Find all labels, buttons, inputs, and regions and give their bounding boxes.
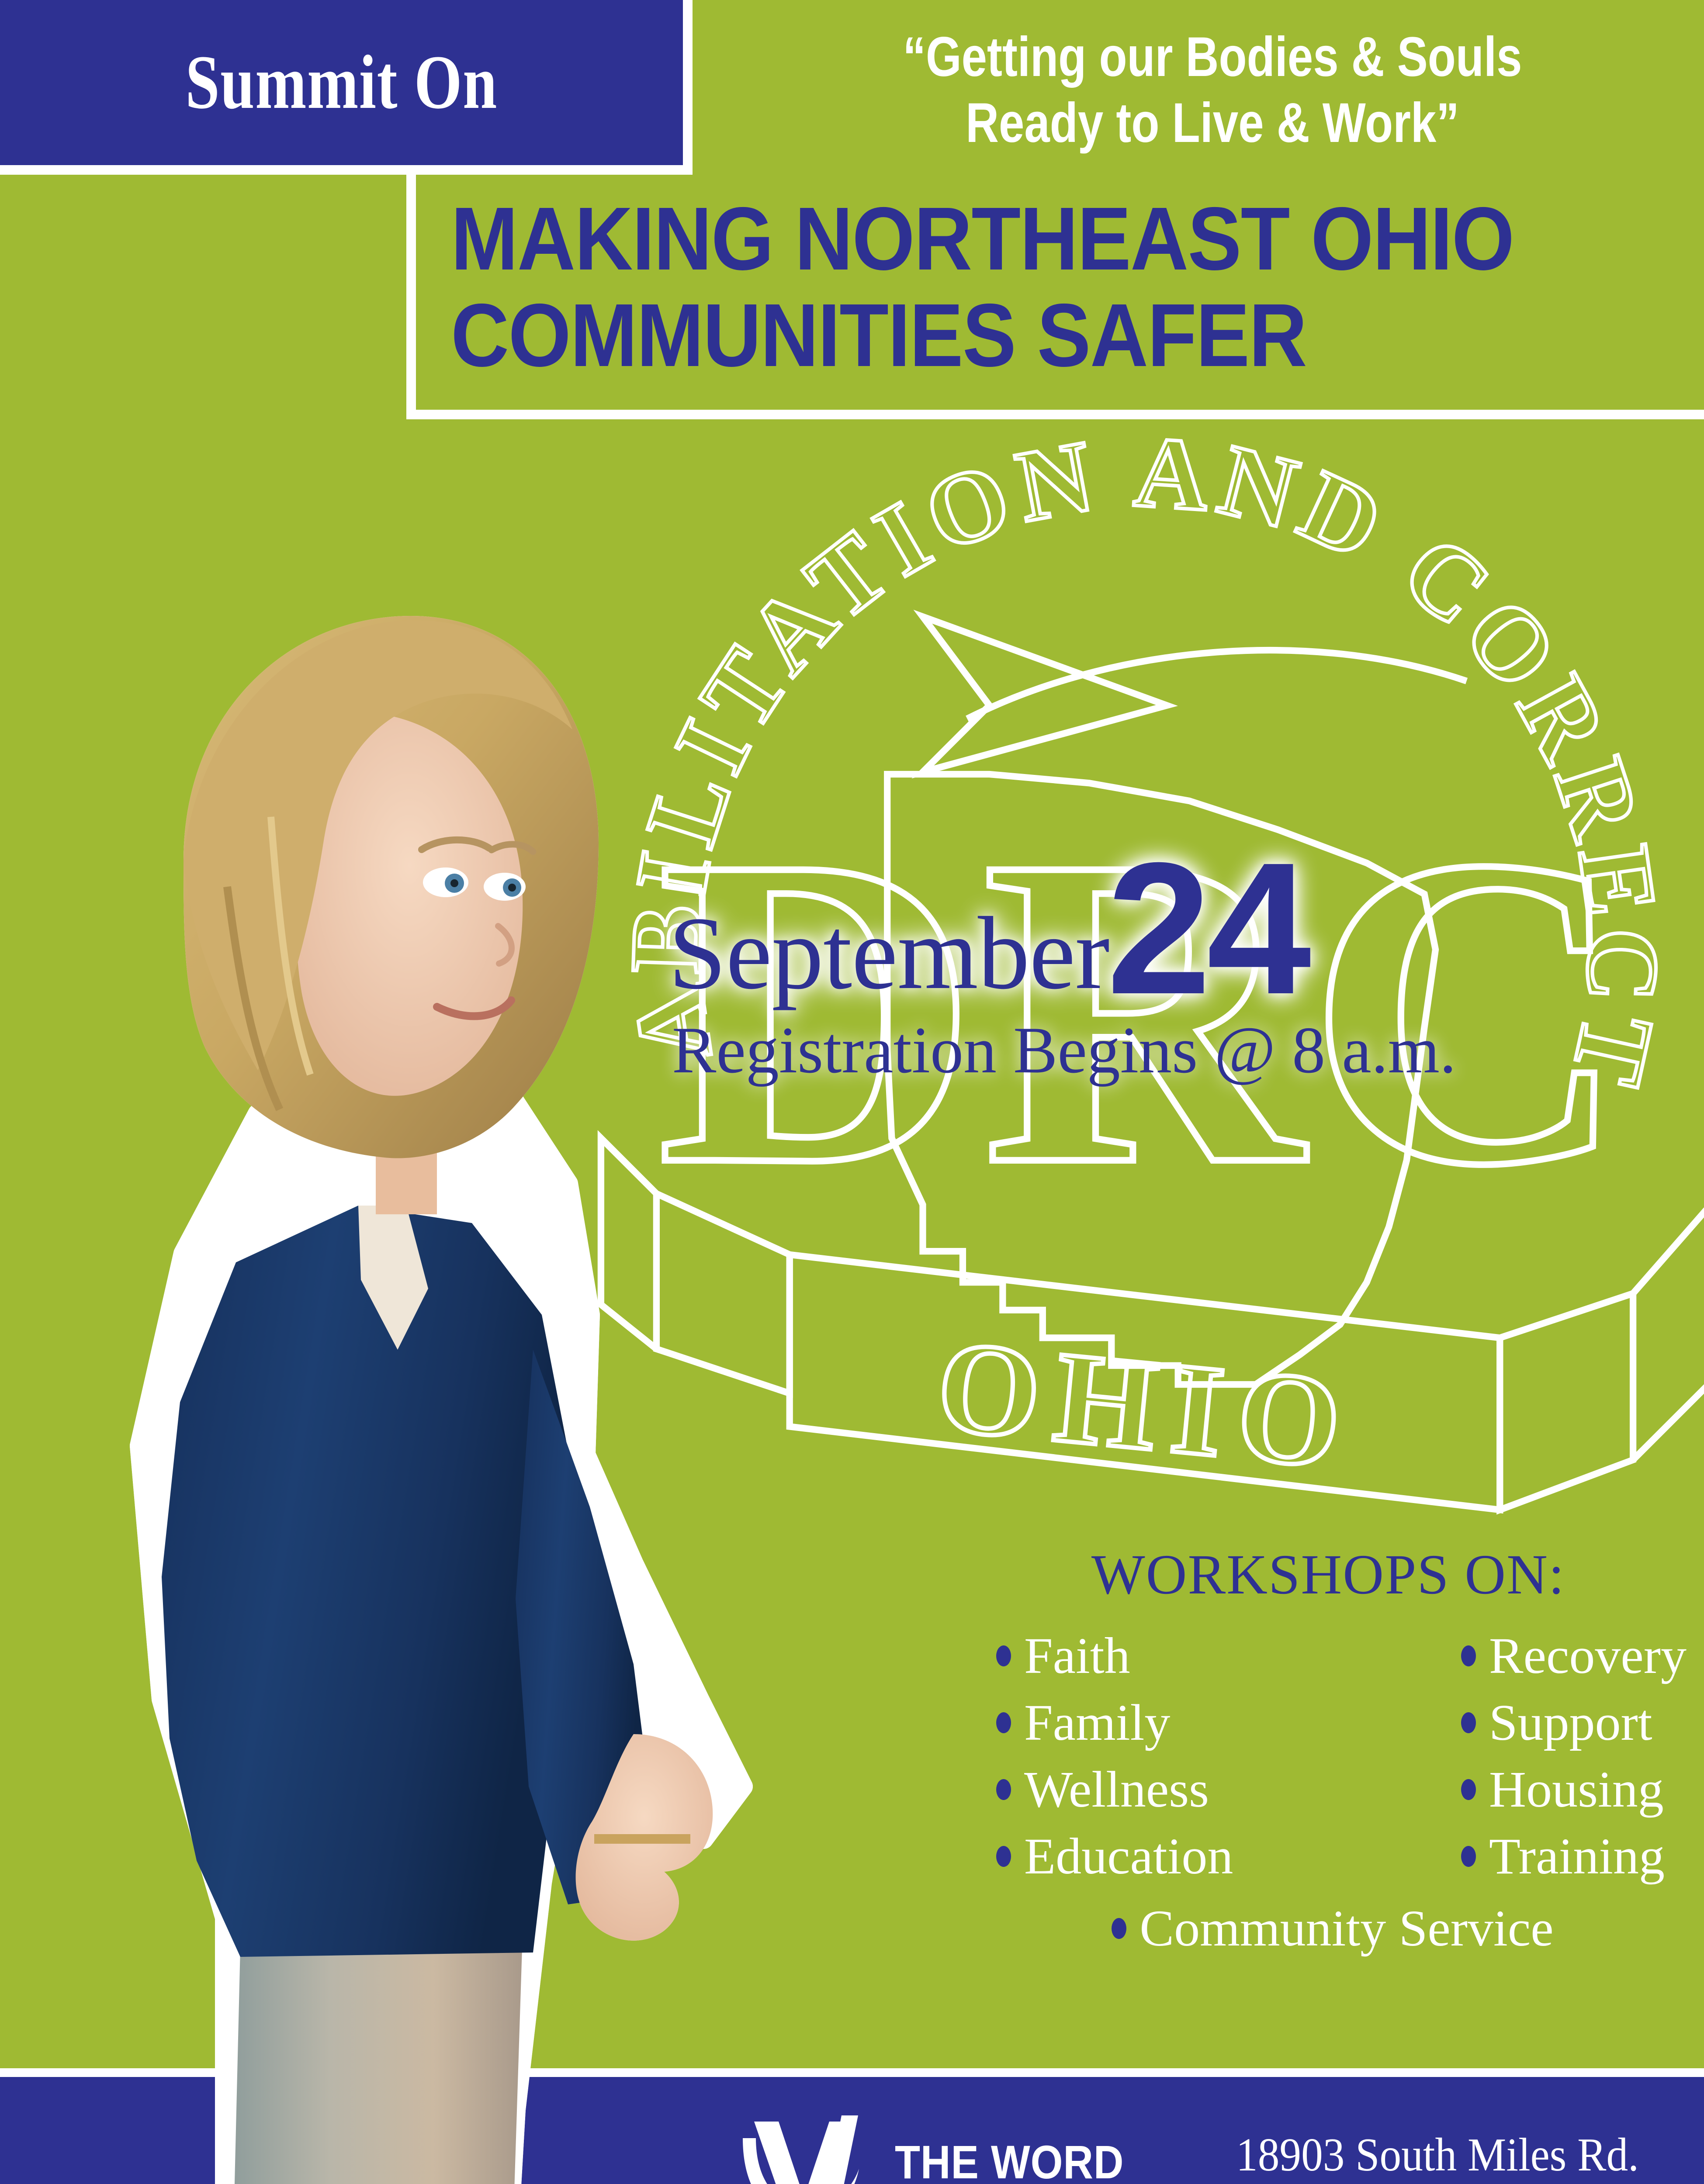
workshops-section: WORKSHOPS ON: Faith Family Wellness Educ…: [939, 1542, 1700, 1956]
blazer: [162, 1206, 567, 1957]
bullet-icon: [1112, 1918, 1126, 1939]
pupil-left: [450, 879, 458, 887]
headline-line-1: MAKING NORTHEAST OHIO: [451, 190, 1579, 287]
bullet-icon: [996, 1712, 1011, 1733]
speaker-photo-cutout: [52, 581, 821, 2184]
bullet-icon: [1461, 1846, 1476, 1867]
bullet-icon: [996, 1779, 1011, 1800]
workshop-label: Education: [1024, 1829, 1233, 1883]
bullet-icon: [1461, 1712, 1476, 1733]
workshops-full-width-row: Community Service: [939, 1901, 1700, 1956]
event-day: 24: [1107, 848, 1307, 1010]
list-item: Housing: [1461, 1762, 1687, 1817]
bullet-icon: [1461, 1645, 1476, 1666]
list-item: Community Service: [1112, 1901, 1553, 1956]
workshops-columns: Faith Family Wellness Education: [939, 1628, 1700, 1883]
headline-line-2: COMMUNITIES SAFER: [451, 287, 1579, 384]
bullet-icon: [996, 1645, 1011, 1666]
event-tagline: “Getting our Bodies & Souls Ready to Liv…: [828, 24, 1598, 156]
workshop-label: Training: [1489, 1829, 1665, 1883]
list-item: Family: [996, 1695, 1233, 1750]
workshops-column-left: Faith Family Wellness Education: [996, 1628, 1233, 1883]
skirt: [227, 1948, 522, 2184]
workshop-label: Faith: [1024, 1628, 1130, 1683]
workshop-label: Wellness: [1024, 1762, 1209, 1817]
church-name-line-1: THE WORD: [895, 2139, 1124, 2184]
workshops-title: WORKSHOPS ON:: [939, 1542, 1700, 1607]
workshop-label: Support: [1489, 1695, 1652, 1750]
bullet-icon: [1461, 1779, 1476, 1800]
workshop-label: Housing: [1489, 1762, 1664, 1817]
seal-banner-text: OHIO: [932, 1313, 1362, 1497]
tagline-line-1: “Getting our Bodies & Souls: [828, 24, 1598, 90]
registration-time: Registration Begins @ 8 a.m.: [672, 1017, 1687, 1083]
list-item: Faith: [996, 1628, 1233, 1683]
list-item: Education: [996, 1829, 1233, 1883]
summit-title: Summit On: [185, 44, 498, 121]
tagline-line-2: Ready to Live & Work”: [828, 90, 1598, 156]
seal-arrow-icon: [923, 617, 1167, 772]
list-item: Recovery: [1461, 1628, 1687, 1683]
poster-canvas: REHABILITATION AND CORRECTION DRC OHIO S…: [0, 0, 1704, 2184]
summit-title-box: Summit On: [0, 0, 693, 175]
church-wordmark: THE WORD CHURCH: [895, 2139, 1155, 2184]
list-item: Wellness: [996, 1762, 1233, 1817]
list-item: Support: [1461, 1695, 1687, 1750]
headline-box: MAKING NORTHEAST OHIO COMMUNITIES SAFER: [406, 175, 1704, 419]
workshop-label: Recovery: [1489, 1628, 1687, 1683]
venue-address: 18903 South Miles Rd. Cleveland, OH 4412…: [1216, 2118, 1659, 2184]
list-item: Training: [1461, 1829, 1687, 1883]
address-line-1: 18903 South Miles Rd.: [1216, 2118, 1659, 2184]
workshops-column-right: Recovery Support Housing Training: [1461, 1628, 1687, 1883]
bullet-icon: [996, 1846, 1011, 1867]
seal-swoosh-icon: [967, 650, 1467, 719]
workshop-label: Family: [1024, 1695, 1170, 1750]
workshop-label: Community Service: [1139, 1901, 1553, 1956]
pupil-right: [508, 884, 516, 892]
